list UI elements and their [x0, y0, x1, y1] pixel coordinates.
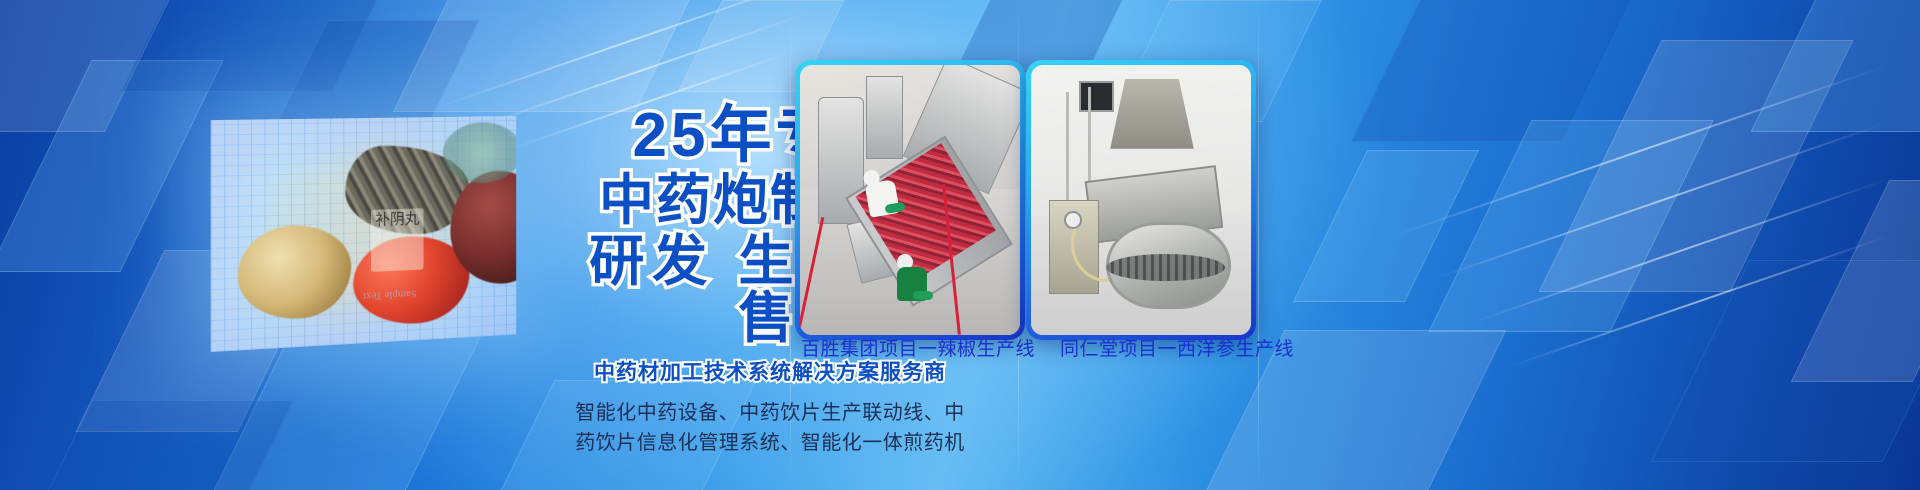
promo-banner: 补阴丸 Sample Text 25年专注 中药炮制设备 研发 生产 销售 中药… — [0, 0, 1920, 490]
description-line-1: 智能化中药设备、中药饮片生产联动线、中 — [560, 398, 980, 428]
description-line-2: 药饮片信息化管理系统、智能化一体煎药机 — [560, 428, 980, 458]
chili-production-line-photo — [800, 65, 1020, 335]
herb-slice — [443, 122, 516, 184]
photo-card-chili-line[interactable] — [795, 60, 1025, 340]
photo-caption-ginseng-line: 同仁堂项目一西洋参生产线 — [1060, 334, 1294, 361]
collage-watermark: Sample Text — [363, 286, 417, 304]
ginseng-production-line-photo — [1031, 65, 1251, 335]
photo-caption-chili-line: 百胜集团项目一辣椒生产线 — [801, 334, 1035, 361]
photo-card-ginseng-line[interactable] — [1026, 60, 1256, 340]
seal-text: 补阴丸 — [371, 208, 424, 272]
herbal-medicine-collage: 补阴丸 Sample Text — [211, 116, 517, 352]
